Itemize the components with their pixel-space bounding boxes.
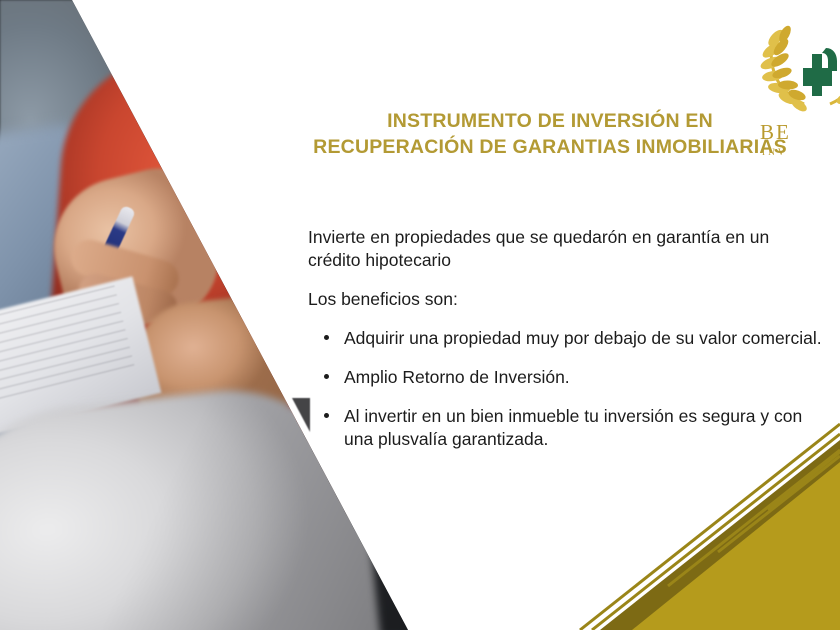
logo-wordmark: BE [760, 120, 791, 145]
list-item-label: Al invertir en un bien inmueble tu inver… [344, 406, 802, 449]
laurel-wreath-icon [742, 8, 840, 118]
page-title: INSTRUMENTO DE INVERSIÓN EN RECUPERACIÓN… [290, 108, 810, 160]
list-item: Adquirir una propiedad muy por debajo de… [308, 327, 828, 350]
decor-olive-triangle [600, 440, 840, 630]
body-content: Invierte en propiedades que se quedarón … [308, 226, 828, 467]
title-line-2: RECUPERACIÓN DE GARANTIAS INMOBILIARIAS [290, 134, 810, 160]
lead-in-paragraph: Los beneficios son: [308, 288, 820, 311]
bullet-icon [324, 374, 329, 379]
emblem-shape [803, 48, 837, 96]
logo-subtitle: INV [762, 147, 788, 157]
list-item-label: Amplio Retorno de Inversión. [344, 367, 570, 387]
benefits-list: Adquirir una propiedad muy por debajo de… [308, 327, 828, 451]
decor-gold-triangle [632, 462, 840, 630]
list-item: Al invertir en un bien inmueble tu inver… [308, 405, 828, 451]
title-line-1: INSTRUMENTO DE INVERSIÓN EN [290, 108, 810, 134]
list-item-label: Adquirir una propiedad muy por debajo de… [344, 328, 822, 348]
presentation-slide: INSTRUMENTO DE INVERSIÓN EN RECUPERACIÓN… [0, 0, 840, 630]
list-item: Amplio Retorno de Inversión. [308, 366, 828, 389]
brand-logo: BE INV [742, 8, 840, 168]
bullet-icon [324, 335, 329, 340]
bullet-icon [324, 413, 329, 418]
intro-paragraph: Invierte en propiedades que se quedarón … [308, 226, 820, 272]
